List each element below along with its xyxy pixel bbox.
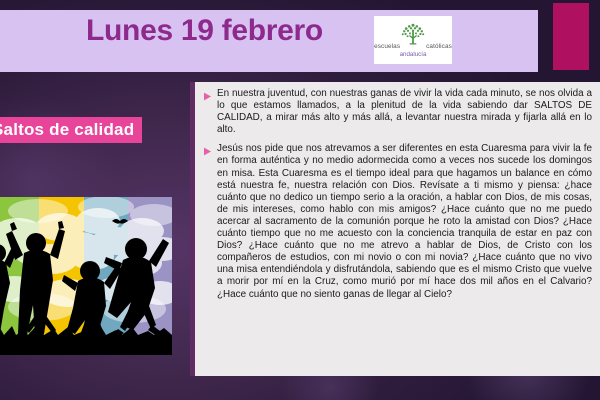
body-paragraph: Jesús nos pide que nos atrevamos a ser d… [203, 143, 592, 300]
paragraph-text: En nuestra juventud, con nuestras ganas … [217, 88, 592, 136]
escuelas-catolicas-logo: escuelas católicas andalucía [374, 16, 452, 64]
logo-word-catolicas: católicas [426, 44, 452, 50]
paragraph-text: Jesús nos pide que nos atrevamos a ser d… [217, 143, 592, 300]
body-paragraph: En nuestra juventud, con nuestras ganas … [203, 88, 592, 136]
page-title: Lunes 19 febrero [86, 14, 323, 48]
logo-wordmark: escuelas católicas [374, 44, 452, 50]
logo-word-escuelas: escuelas [374, 44, 400, 50]
jumping-people-illustration [0, 197, 172, 355]
body-text-panel: En nuestra juventud, con nuestras ganas … [190, 82, 600, 376]
subtitle-text: Saltos de calidad [0, 120, 134, 140]
magenta-accent-block [553, 3, 589, 70]
jumping-people-photo [0, 197, 172, 355]
bullet-arrow-icon [203, 88, 217, 101]
logo-subline: andalucía [400, 52, 427, 58]
bullet-arrow-icon [203, 143, 217, 156]
presentation-slide: Lunes 19 febrero [0, 0, 600, 400]
subtitle-banner: Saltos de calidad [0, 117, 142, 143]
